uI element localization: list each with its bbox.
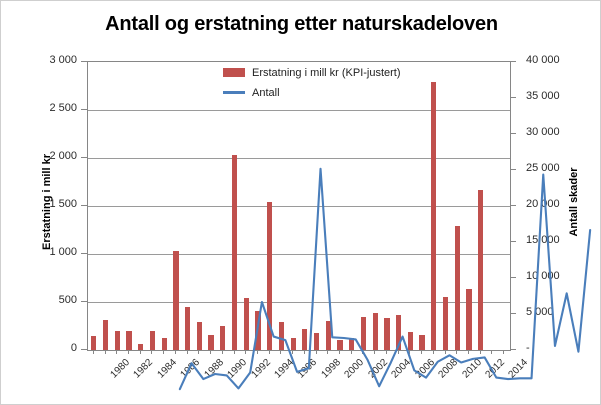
legend-item-erstatning: Erstatning i mill kr (KPI-justert) <box>223 64 401 81</box>
y-axis-primary-tick-label: 2 500 <box>15 103 77 114</box>
y-axis-primary-tick-label: 0 <box>15 343 77 354</box>
legend-item-label: Antall <box>252 87 280 99</box>
legend-item-antall: Antall <box>223 84 401 101</box>
gridline <box>88 110 510 111</box>
legend-line-swatch-icon <box>223 91 245 94</box>
y-axis-secondary-tick-label: 35 000 <box>526 91 588 102</box>
y-axis-secondary-tick-label: 40 000 <box>526 55 588 66</box>
bar <box>103 320 108 350</box>
line-series <box>174 122 596 405</box>
y-axis-primary-tick-label: 2 000 <box>15 151 77 162</box>
y-axis-primary-tick-label: 3 000 <box>15 55 77 66</box>
y-axis-primary-tick-label: 500 <box>15 295 77 306</box>
legend-bar-swatch-icon <box>223 68 245 77</box>
chart-legend: Erstatning i mill kr (KPI-justert) Antal… <box>223 64 401 104</box>
bar <box>115 331 120 350</box>
bar <box>126 331 131 350</box>
chart-container: Antall og erstatning etter naturskadelov… <box>0 0 601 405</box>
bar <box>138 344 143 350</box>
bar <box>91 336 96 350</box>
bar <box>162 338 167 350</box>
chart-title: Antall og erstatning etter naturskadelov… <box>1 13 601 36</box>
x-axis-tick-label: 1982 <box>132 357 156 381</box>
y-axis-primary-tick-label: 1 000 <box>15 247 77 258</box>
plot-area <box>87 61 511 351</box>
bar <box>150 331 155 350</box>
y-axis-primary-tick-label: 1 500 <box>15 199 77 210</box>
legend-item-label: Erstatning i mill kr (KPI-justert) <box>252 67 401 79</box>
x-axis-tick-label: 1980 <box>108 357 132 381</box>
